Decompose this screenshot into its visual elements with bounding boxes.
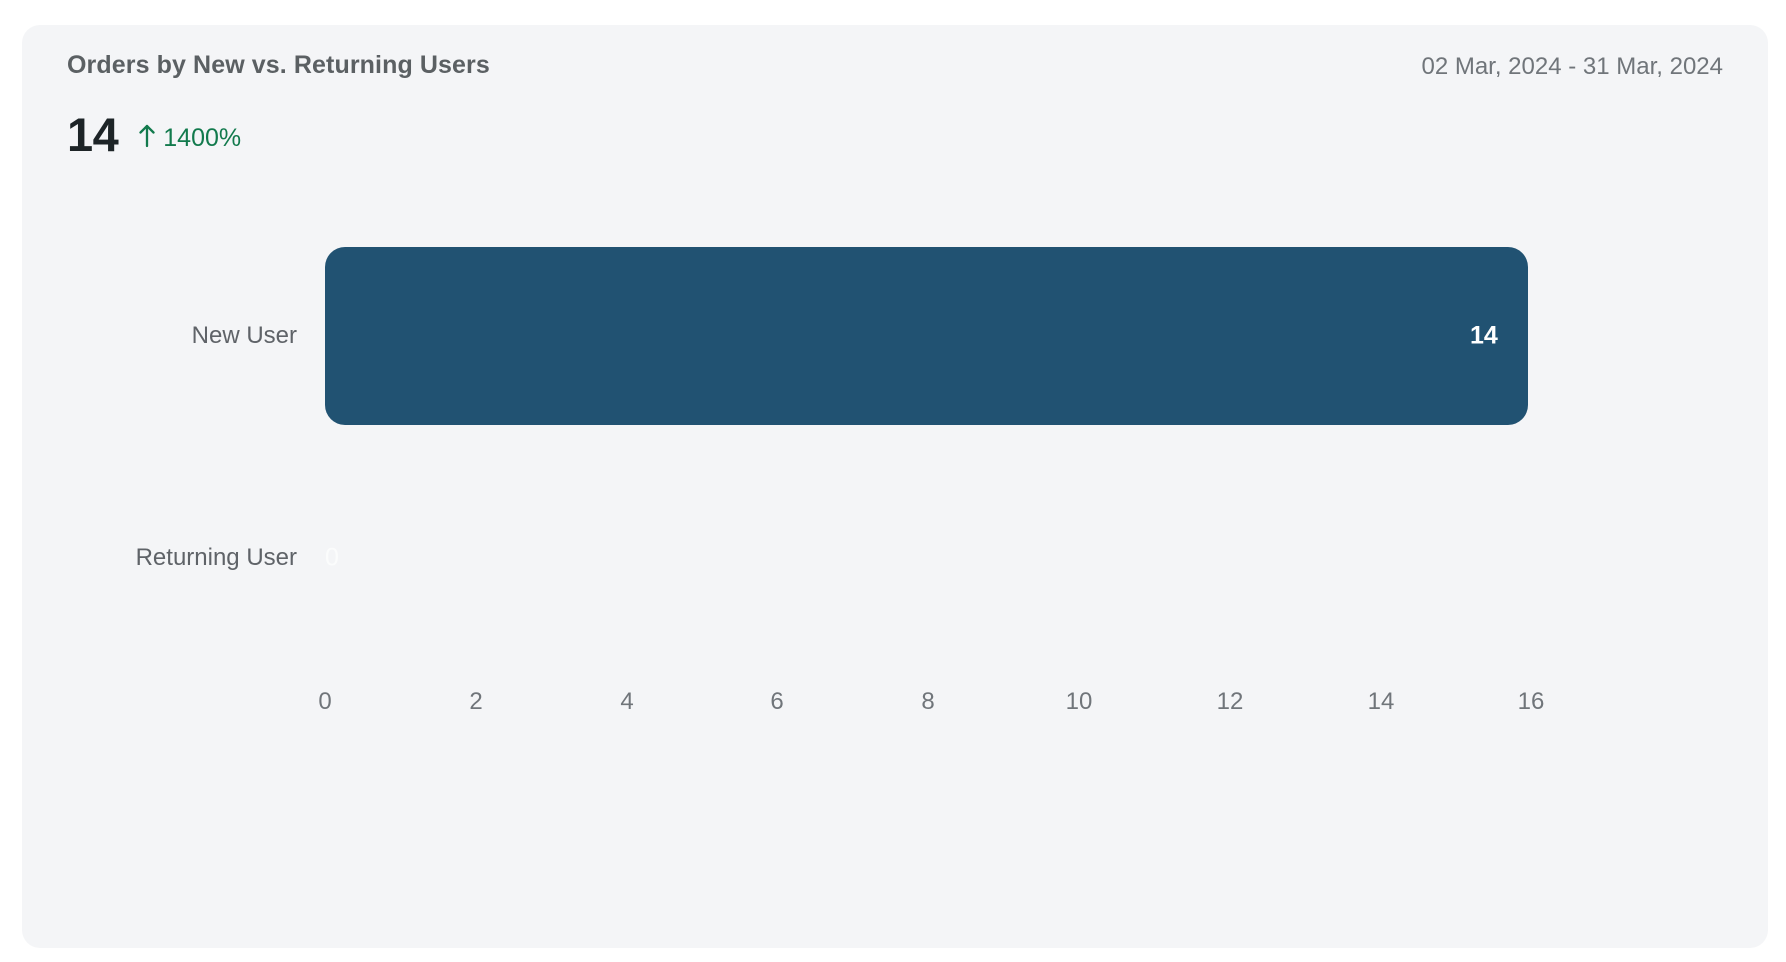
x-tick-2: 2 [469,688,482,716]
x-tick-4: 4 [620,688,633,716]
bar-value-returning-user: 0 [325,544,339,573]
bar-new-user[interactable] [325,247,1528,425]
bar-chart-plot: New User 14 Returning User 0 0 2 4 6 8 1… [22,25,1768,948]
category-label-new-user: New User [192,322,297,350]
x-tick-16: 16 [1518,688,1545,716]
bar-value-new-user: 14 [1470,322,1498,351]
x-tick-12: 12 [1217,688,1244,716]
page-root: Orders by New vs. Returning Users 02 Mar… [0,0,1786,962]
x-tick-8: 8 [921,688,934,716]
x-tick-14: 14 [1368,688,1395,716]
category-label-returning-user: Returning User [136,544,297,572]
x-tick-6: 6 [770,688,783,716]
x-tick-10: 10 [1066,688,1093,716]
x-tick-0: 0 [318,688,331,716]
orders-chart-card: Orders by New vs. Returning Users 02 Mar… [22,25,1768,948]
